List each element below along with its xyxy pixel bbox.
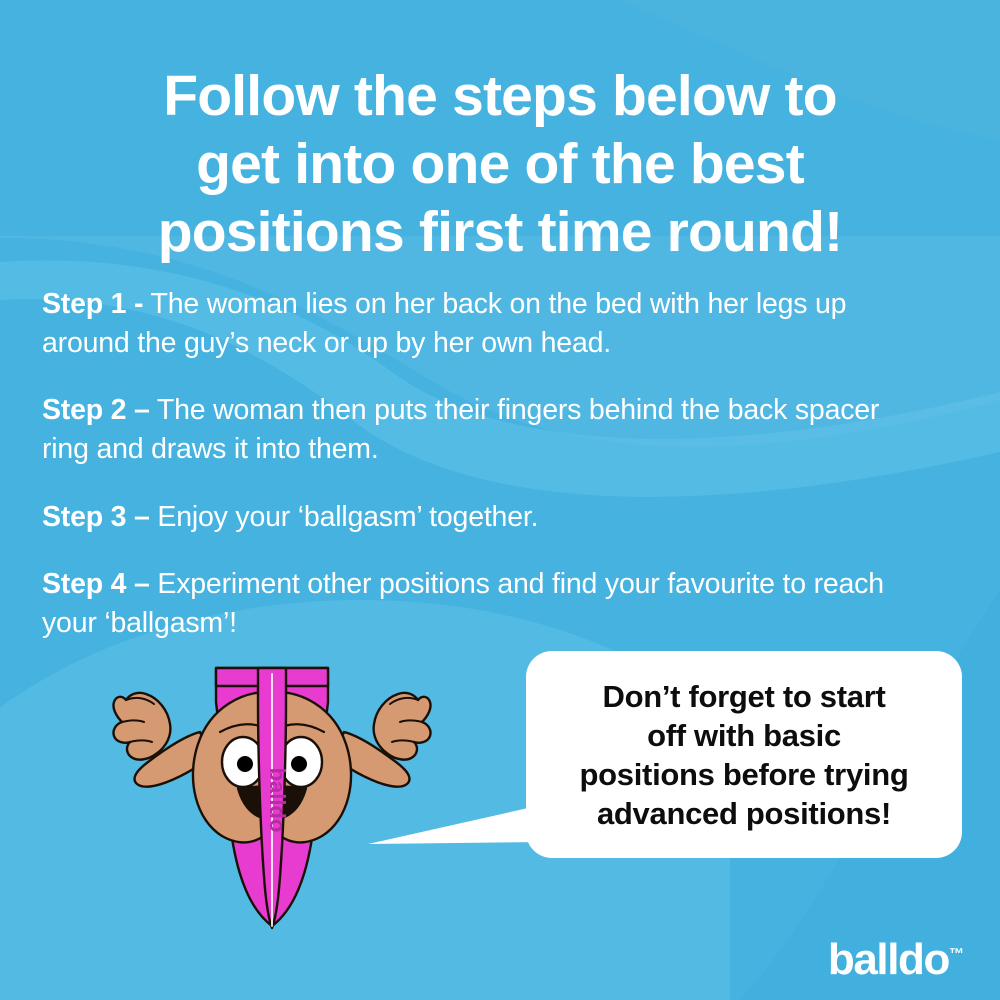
step-text: Enjoy your ‘ballgasm’ together. xyxy=(150,501,539,533)
speech-bubble-line-4: advanced positions! xyxy=(597,796,891,831)
step-label: Step 4 – xyxy=(42,568,150,600)
brand-logo-name: balldo xyxy=(828,935,949,984)
device-brand-label: balldo xyxy=(265,768,290,833)
page-title: Follow the steps below to get into one o… xyxy=(0,62,1000,266)
left-pupil xyxy=(237,756,253,772)
brand-logo: balldo™ xyxy=(828,938,964,982)
right-thumbs-up-hand xyxy=(374,693,431,760)
trademark-symbol: ™ xyxy=(949,945,964,962)
step-label: Step 3 – xyxy=(42,501,150,533)
page-title-line-1: Follow the steps below to xyxy=(0,62,1000,130)
balldo-mascot: balldo xyxy=(92,640,484,940)
speech-bubble-line-2: off with basic xyxy=(647,718,841,753)
step-text: Experiment other positions and find your… xyxy=(42,568,884,639)
steps-list: Step 1 - The woman lies on her back on t… xyxy=(42,256,932,643)
step-item: Step 2 – The woman then puts their finge… xyxy=(42,391,932,469)
right-pupil xyxy=(291,756,307,772)
step-item: Step 1 - The woman lies on her back on t… xyxy=(42,285,932,363)
speech-bubble-text: Don’t forget to start off with basic pos… xyxy=(566,677,923,833)
page-title-line-2: get into one of the best xyxy=(0,130,1000,198)
poster-canvas: Follow the steps below to get into one o… xyxy=(0,0,1000,1000)
step-item: Step 4 – Experiment other positions and … xyxy=(42,565,932,643)
speech-bubble-line-1: Don’t forget to start xyxy=(602,679,885,714)
step-label: Step 1 - xyxy=(42,288,143,320)
step-label: Step 2 – xyxy=(42,394,150,426)
left-thumbs-up-hand xyxy=(113,693,170,760)
step-text: The woman then puts their fingers behind… xyxy=(42,394,879,465)
speech-bubble: Don’t forget to start off with basic pos… xyxy=(526,651,962,858)
speech-bubble-line-3: positions before trying xyxy=(580,757,909,792)
step-text: The woman lies on her back on the bed wi… xyxy=(42,288,846,359)
step-item: Step 3 – Enjoy your ‘ballgasm’ together. xyxy=(42,498,932,537)
